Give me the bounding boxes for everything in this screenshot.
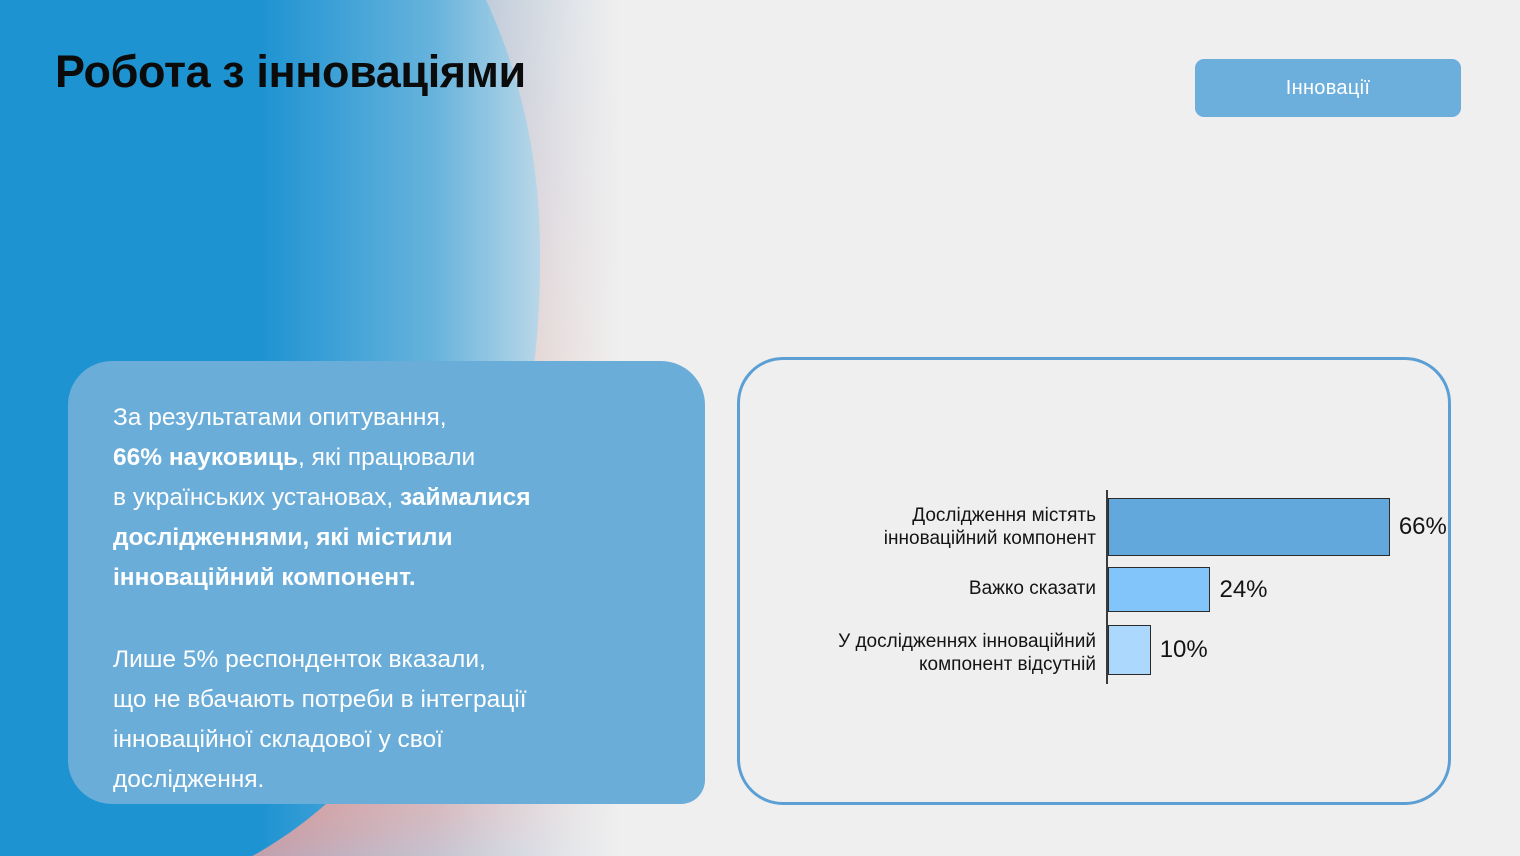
chart-card: Дослідження містять інноваційний компоне…: [737, 357, 1451, 805]
bar-value-label-3: 10%: [1160, 636, 1208, 664]
summary-p1-line3-bold: займалися: [400, 484, 531, 511]
bar-2[interactable]: [1108, 567, 1210, 612]
presentation-slide: Робота з інноваціями Інновації За резуль…: [0, 0, 1520, 856]
bar-row: 66%: [1108, 498, 1447, 556]
bar-value-label-1: 66%: [1399, 513, 1447, 541]
bar-chart: Дослідження містять інноваційний компоне…: [740, 360, 1454, 808]
section-badge[interactable]: Інновації: [1195, 59, 1461, 117]
bar-category-label-3-line-1: У дослідженнях інноваційний: [838, 631, 1096, 652]
summary-text-body: За результатами опитування, 66% науковиц…: [113, 398, 673, 800]
bar-category-label-1-line-1: Дослідження містять: [912, 505, 1096, 526]
summary-p1-line2-rest: , які працювали: [298, 444, 475, 471]
bar-category-label-3: У дослідженнях інноваційний компонент ві…: [756, 630, 1096, 676]
bar-row: 24%: [1108, 567, 1268, 612]
paragraph-spacer: [113, 598, 673, 640]
bar-3[interactable]: [1108, 625, 1151, 675]
summary-p1-line2-bold: 66% науковиць: [113, 444, 298, 471]
summary-p2-line1: Лише 5% респонденток вказали,: [113, 646, 486, 673]
summary-p2-line4: дослідження.: [113, 766, 264, 793]
bar-category-label-1: Дослідження містять інноваційний компоне…: [756, 504, 1096, 550]
section-badge-label: Інновації: [1286, 77, 1370, 100]
summary-text-card: За результатами опитування, 66% науковиц…: [68, 361, 705, 804]
bar-1[interactable]: [1108, 498, 1390, 556]
summary-p1-line4-bold: дослідженнями, які містили: [113, 524, 453, 551]
bar-category-label-2-line-1: Важко сказати: [969, 578, 1096, 599]
summary-paragraph-2: Лише 5% респонденток вказали, що не вбач…: [113, 640, 673, 800]
summary-p2-line3: інноваційної складової у свої: [113, 726, 443, 753]
summary-paragraph-1: За результатами опитування, 66% науковиц…: [113, 398, 673, 598]
bar-value-label-2: 24%: [1219, 576, 1267, 604]
bar-row: 10%: [1108, 625, 1208, 675]
summary-p1-line5-bold: інноваційний компонент.: [113, 564, 416, 591]
summary-p1-line3-plain: в українських установах,: [113, 484, 400, 511]
bar-category-label-2: Важко сказати: [756, 577, 1096, 600]
bar-category-label-1-line-2: інноваційний компонент: [884, 528, 1096, 549]
page-title: Робота з інноваціями: [55, 46, 526, 98]
bar-category-label-3-line-2: компонент відсутній: [919, 654, 1096, 675]
summary-p2-line2: що не вбачають потреби в інтеграції: [113, 686, 527, 713]
summary-p1-line1: За результатами опитування,: [113, 404, 447, 431]
